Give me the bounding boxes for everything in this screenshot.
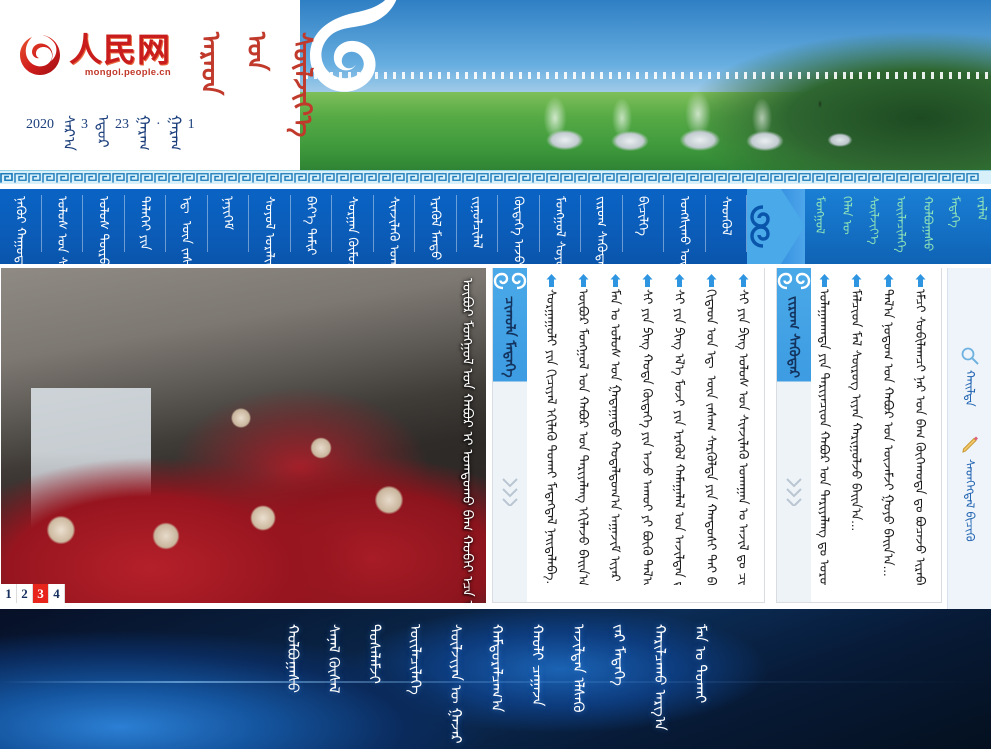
logo-domain-text: mongol.people.cn [69,68,171,78]
news-item-title: ᠡᠮᠴᠢ ᠰᠤᠪᠢᠯᠠᠭᠴᠢ ᠨᠠᠷ ᠤᠨ ᠪᠠᠭ ᠬᠥᠬᠡᠬᠣᠲᠠ ᠳᠤ ᠪᠤ… [912,289,928,585]
news-item-title: ᠰᠢ ᠶᠢᠨ ᠫᠢᠩ ᠤᠯᠤᠰ ᠤᠨ ᠰᠢᠨᠵᠢᠯᠡᠬᠦ ᠤᠬᠠᠭᠠᠨ ᠤ ᠠᠵ… [735,289,751,585]
site-header: 人民网 mongol.people.cn ᠠᠷᠠᠳ ᠤᠨ ᠰᠦᠯᠵᠢᠶ᠎ᠡ 20… [0,0,991,170]
carousel-dot-2[interactable]: 2 [17,584,33,603]
news-item-title: ᠬᠢᠲᠠᠳ ᠤᠨ ᠡᠳ᠋ ᠍ ᠦᠨ ᠵᠠᠰᠠᠭ ᠰᠡᠷᠭᠦᠯᠲᠡ ᠶᠢᠨ ᠬᠠᠨ… [703,289,719,585]
news-item[interactable]: ᠲᠠᠯ᠎ᠠ ᠨᠤᠲᠤᠭ ᠤᠨ ᠬᠠᠪᠤᠷ ᠤᠨ ᠦᠵᠡᠮᠵᠢ ᠭᠣᠶᠤ ᠪᠠᠢᠨ… [872,274,904,596]
rail-button-pencil[interactable]: ᠰᠡᠳᠬᠡᠭᠳᠡᠯ ᠪᠢᠴᠢᠬᠦ [960,435,980,542]
bullet-arrow-icon [883,274,894,287]
carousel-dot-1[interactable]: 1 [1,584,17,603]
cloud-ornament-icon [493,268,527,294]
nav-item-15[interactable]: ᠪᠢᠴᠢᠯᠭᠡ [623,189,665,264]
rail-button-label: ᠰᠡᠳᠬᠡᠭᠳᠡᠯ ᠪᠢᠴᠢᠬᠦ [963,459,976,542]
search-icon[interactable] [960,346,980,366]
carousel-indicators: 1234 [1,584,65,603]
news-item-title: ᠤᠯᠠᠭᠠᠨᠬᠠᠳᠠ ᠶᠢᠨ ᠲᠠᠷᠢᠶᠠᠴᠢᠳ ᠬᠠᠪᠤᠷ ᠤᠨ ᠲᠠᠷᠢᠶᠠ… [816,289,832,585]
bullet-arrow-icon [578,274,589,287]
nav-item-label: ᠡᠷᠡᠭᠦᠯ ᠮᠡᠨᠳᠦ [429,196,443,260]
panel-title: ᠵᠢᠷᠤᠭ ᠰᠡᠭᠦᠳᠡᠷ [786,296,803,378]
date-year-label: ᠰᠠᠷ᠎ᠠ [60,115,75,135]
nav-primary-group: ᠨᠡᠭᠦᠷ ᠬᠠᠭᠤᠳᠠᠰᠤᠤᠯᠤᠰ ᠤᠨ ᠰᠣᠨᠢᠨᠤᠯᠤᠰ ᠲᠥᠷᠥᠳᠡᠯᠡ… [0,189,747,264]
nav-item-label: ᠨᠡᠶᠢᠭᠡᠮ [221,196,235,230]
nav-item-label: ᠪᠢᠴᠢᠯᠭᠡ [636,196,650,236]
nav-sub-item-4[interactable]: ᠬᠣᠯᠪᠤᠭᠠᠰᠤ [915,196,940,251]
nav-item-1[interactable]: ᠤᠯᠤᠰ ᠤᠨ ᠰᠣᠨᠢᠨ [42,189,84,264]
nav-item-5[interactable]: ᠨᠡᠶᠢᠭᠡᠮ [208,189,250,264]
bullet-arrow-icon [819,274,830,287]
nav-item-label: ᠪᠡᠶ᠎ᠡ ᠲᠠᠮᠢᠷ [304,196,318,255]
footer-link[interactable]: ᠬᠠᠤᠯᠢ ᠴᠠᠭᠠᠵᠠ [527,624,546,706]
nav-sub-item-label: ᠬᠡᠯᠡᠨ ᠦ [840,196,853,235]
footer-link[interactable]: ᠰᠦᠯᠵᠢᠶᠡᠨ ᠦ ᠭᠠᠵᠠᠷ [445,624,464,744]
bullet-arrow-icon [610,274,621,287]
carousel-dot-3[interactable]: 3 [33,584,49,603]
news-item-title: ᠰᠢ ᠶᠢᠨ ᠫᠢᠩ ᠬᠣᠲᠠ ᠬᠥᠳᠡᠭᠡ ᠶᠢᠨ ᠠᠵᠤ ᠠᠬᠤᠢ ᠶᠢ ᠪ… [639,289,655,585]
nav-sub-item-label: ᠰᠦᠯᠵᠢᠶ᠎ᠡ [867,196,880,245]
nav-item-label: ᠰᠤᠶᠤᠯ ᠤᠷᠠᠯᠢᠭ [263,196,277,264]
news-panel-1: ᠵᠢᠷᠤᠭ ᠰᠡᠭᠦᠳᠡᠷᠡᠮᠴᠢ ᠰᠤᠪᠢᠯᠠᠭᠴᠢ ᠨᠠᠷ ᠤᠨ ᠪᠠᠭ ᠬ… [776,268,942,603]
rail-button-search[interactable]: ᠬᠠᠢᠯᠲᠠ [960,346,980,407]
main-navigation: ᠨᠡᠭᠦᠷ ᠬᠠᠭᠤᠳᠠᠰᠤᠤᠯᠤᠰ ᠤᠨ ᠰᠣᠨᠢᠨᠤᠯᠤᠰ ᠲᠥᠷᠥᠳᠡᠯᠡ… [0,189,991,264]
nav-item-label: ᠵᠢᠷᠤᠭ ᠰᠡᠭᠦᠳᠡᠷ [595,196,609,264]
nav-item-label: ᠰᠤᠷᠭᠠᠨ ᠬᠥᠮᠦᠵᠢᠯ [346,196,360,264]
nav-item-label: ᠤᠯᠤᠰ ᠤᠨ ᠰᠣᠨᠢᠨ [55,196,69,264]
nav-item-label: ᠵᠢᠭᠤᠯᠴᠢᠯᠠᠯ [470,196,484,249]
news-item[interactable]: ᠰᠤᠷᠭᠠᠭᠤᠯᠢ ᠶᠢᠨ ᠬᠢᠴᠢᠶᠡᠯ ᠡᠬᠢᠯᠡᠬᠦ ᠲᠤᠬᠠᠢ ᠮᠡᠳᠡ… [535,274,567,596]
nav-item-label: ᠨᠡᠭᠦᠷ ᠬᠠᠭᠤᠳᠠᠰᠤ [14,196,28,264]
bullet-arrow-icon [706,274,717,287]
news-item[interactable]: ᠰᠢ ᠶᠢᠨ ᠫᠢᠩ ᠡᠯ᠎ᠡ ᠮᠤᠵᠢ ᠶᠢᠨ ᠡᠷᠡᠭᠦᠯ ᠬᠠᠮᠠᠭᠠᠯᠠ… [663,274,695,596]
panel-news-list-0: ᠰᠢ ᠶᠢᠨ ᠫᠢᠩ ᠤᠯᠤᠰ ᠤᠨ ᠰᠢᠨᠵᠢᠯᠡᠬᠦ ᠤᠬᠠᠭᠠᠨ ᠤ ᠠᠵ… [527,268,764,602]
footer-link[interactable]: ᠬᠠᠮᠲᠤᠷᠠᠯᠴᠠᠭ᠎ᠠ [486,624,505,712]
site-logo[interactable]: 人民网 mongol.people.cn ᠠᠷᠠᠳ ᠤᠨ ᠰᠦᠯᠵᠢᠶ᠎ᠡ [18,32,326,78]
utility-rail: ᠬᠠᠢᠯᠲᠠᠰᠡᠳᠬᠡᠭᠳᠡᠯ ᠪᠢᠴᠢᠬᠦ [947,268,991,609]
footer-link[interactable]: ᠵᠠᠷ ᠮᠡᠳᠡᠭᠡ [608,624,627,686]
bullet-arrow-icon [915,274,926,287]
site-footer: ᠮᠠᠨ ᠤ ᠲᠤᠬᠠᠢᠬᠠᠷᠢᠯᠴᠠᠬᠤ ᠠᠷᠭ᠎ᠠᠵᠠᠷ ᠮᠡᠳᠡᠭᠡᠠᠵᠢᠯ… [0,609,991,749]
page-root: 人民网 mongol.people.cn ᠠᠷᠠᠳ ᠤᠨ ᠰᠦᠯᠵᠢᠶ᠎ᠡ 20… [0,0,991,752]
news-item-title: ᠥᠪᠥᠷ ᠮᠣᠩᠭᠤᠯ ᠤᠨ ᠬᠠᠪᠤᠷ ᠤᠨ ᠲᠠᠷᠢᠶᠠᠯᠠᠩ ᠡᠬᠢᠯᠡᠵ… [575,289,591,585]
nav-item-11[interactable]: ᠵᠢᠭᠤᠯᠴᠢᠯᠠᠯ [457,189,499,264]
nav-item-13[interactable]: ᠮᠣᠩᠭᠤᠯ ᠰᠤᠶᠤᠯ [540,189,582,264]
footer-link[interactable]: ᠠᠵᠢᠯᠲᠠᠨ ᠡᠯᠰᠡᠬᠦ [568,624,587,713]
nav-item-label: ᠰᠢᠨᠵᠢᠯᠡᠬᠦ ᠤᠬᠠᠭᠠᠨ [387,196,401,264]
nav-item-label: ᠡᠳ᠋ ᠍ ᠦᠨ ᠵᠠᠰᠠᠭ [180,196,194,264]
news-panel-0: ᠴᠢᠬᠤᠯᠠ ᠮᠡᠳᠡᠭᠡᠰᠢ ᠶᠢᠨ ᠫᠢᠩ ᠤᠯᠤᠰ ᠤᠨ ᠰᠢᠨᠵᠢᠯᠡᠬ… [492,268,765,603]
date-year: 2020 [26,117,54,133]
carousel-dot-4[interactable]: 4 [49,584,65,603]
news-item[interactable]: ᠰᠢ ᠶᠢᠨ ᠫᠢᠩ ᠤᠯᠤᠰ ᠤᠨ ᠰᠢᠨᠵᠢᠯᠡᠬᠦ ᠤᠬᠠᠭᠠᠨ ᠤ ᠠᠵ… [727,274,759,596]
nav-item-4[interactable]: ᠡᠳ᠋ ᠍ ᠦᠨ ᠵᠠᠰᠠᠭ [166,189,208,264]
footer-link[interactable]: ᠮᠠᠨ ᠤ ᠲᠤᠬᠠᠢ [690,624,709,703]
bullet-arrow-icon [851,274,862,287]
meander-border [0,170,991,184]
date-day-label: ᠭᠠᠷᠠᠭ [135,115,150,135]
nav-sub-item-label: ᠮᠣᠩᠭᠤᠯ [813,196,826,234]
nav-sub-item-label: ᠮᠡᠳᠡᠭᠡ [948,196,961,228]
nav-item-label: ᠰᠡᠳᠬᠦᠯ [719,196,733,236]
date-weekday-number: 1 [188,117,195,133]
nav-item-10[interactable]: ᠡᠷᠡᠭᠦᠯ ᠮᠡᠨᠳᠦ [415,189,457,264]
nav-sub-item-5[interactable]: ᠮᠡᠳᠡᠭᠡ [942,196,967,228]
panel-header-1[interactable]: ᠵᠢᠷᠤᠭ ᠰᠡᠭᠦᠳᠡᠷ [777,268,811,602]
carousel-caption[interactable]: ᠥᠪᠥᠷ ᠮᠣᠩᠭᠤᠯ ᠤᠨ ᠬᠠᠪᠤᠷ ᠢ ᠤᠭᠲᠤᠬᠤ ᠪᠠᠭ ᠬᠤᠪᠡᠢ … [457,278,478,557]
footer-link-list: ᠮᠠᠨ ᠤ ᠲᠤᠬᠠᠢᠬᠠᠷᠢᠯᠴᠠᠬᠤ ᠠᠷᠭ᠎ᠠᠵᠠᠷ ᠮᠡᠳᠡᠭᠡᠠᠵᠢᠯ… [282,614,708,744]
logo-mongolian-text: ᠠᠷᠠᠳ ᠤᠨ ᠰᠦᠯᠵᠢᠶ᠎ᠡ [188,32,326,78]
chevron-down-icon[interactable] [784,476,804,506]
date-month: 3 [81,117,88,133]
nav-item-17[interactable]: ᠰᠡᠳᠬᠦᠯ [706,189,748,264]
nav-sub-item-label: ᠦᠢᠯᠡᠴᠢᠯᠡᠭᠡ [894,196,907,253]
chevron-down-icon[interactable] [500,476,520,506]
nav-item-7[interactable]: ᠪᠡᠶ᠎ᠡ ᠲᠠᠮᠢᠷ [291,189,333,264]
news-item[interactable]: ᠬᠢᠲᠠᠳ ᠤᠨ ᠡᠳ᠋ ᠍ ᠦᠨ ᠵᠠᠰᠠᠭ ᠰᠡᠷᠭᠦᠯᠲᠡ ᠶᠢᠨ ᠬᠠᠨ… [695,274,727,596]
news-panels: ᠴᠢᠬᠤᠯᠠ ᠮᠡᠳᠡᠭᠡᠰᠢ ᠶᠢᠨ ᠫᠢᠩ ᠤᠯᠤᠰ ᠤᠨ ᠰᠢᠨᠵᠢᠯᠡᠬ… [486,268,942,609]
bullet-arrow-icon [546,274,557,287]
nav-sub-item-0[interactable]: ᠮᠣᠩᠭᠤᠯ [807,196,832,234]
nav-sub-item-3[interactable]: ᠦᠢᠯᠡᠴᠢᠯᠡᠭᠡ [888,196,913,253]
people-daily-logo-icon [18,33,62,77]
news-item-title: ᠮᠠᠯᠴᠢᠳ ᠮᠠᠯ ᠰᠦᠷᠦᠭ ᠢᠶᠡᠨ ᠬᠠᠷᠢᠭᠤᠯᠵᠤ ᠪᠠᠢᠨ᠎ᠠ..… [848,289,864,531]
nav-item-label: ᠤᠯᠤᠰ ᠲᠥᠷᠥ [97,196,111,264]
nav-item-label: ᠳᠡᠯᠡᠬᠡᠢ ᠶᠢᠨ [138,196,152,250]
nav-sub-item-6[interactable]: ᠵᠠᠷᠯᠠᠯ [969,196,991,220]
rail-button-label: ᠬᠠᠢᠯᠲᠠ [963,370,976,407]
date-separator: · [156,117,161,133]
footer-link[interactable]: ᠬᠠᠷᠢᠯᠴᠠᠬᠤ ᠠᠷᠭ᠎ᠠ [649,624,668,731]
nav-item-label: ᠮᠣᠩᠭᠤᠯ ᠰᠤᠶᠤᠯ [553,196,567,264]
nav-item-14[interactable]: ᠵᠢᠷᠤᠭ ᠰᠡᠭᠦᠳᠡᠷ [581,189,623,264]
news-item[interactable]: ᠮᠠᠨ ᠤ ᠤᠯᠤᠰ ᠤᠨ ᠭᠠᠳᠠᠭᠠᠳᠤ ᠬᠤᠳᠠᠯᠳᠤᠭ᠎ᠠ ᠠᠭᠠᠵᠢᠮ… [599,274,631,596]
logo-wordmark: 人民网 mongol.people.cn [69,33,171,78]
date-weekday-label: ᠭᠠᠷᠠᠭ [167,115,182,135]
cloud-arrow-icon [747,189,805,264]
main-content: ᠥᠪᠥᠷ ᠮᠣᠩᠭᠤᠯ ᠤᠨ ᠬᠠᠪᠤᠷ ᠢ ᠤᠭᠲᠤᠬᠤ ᠪᠠᠭ ᠬᠤᠪᠡᠢ … [0,264,991,609]
nav-item-12[interactable]: ᠬᠥᠳᠡᠭᠡ ᠠᠵᠤ [498,189,540,264]
pencil-icon[interactable] [960,435,980,455]
header-grassland-photo [300,0,991,170]
bullet-arrow-icon [674,274,685,287]
photo-carousel[interactable]: ᠥᠪᠥᠷ ᠮᠣᠩᠭᠤᠯ ᠤᠨ ᠬᠠᠪᠤᠷ ᠢ ᠤᠭᠲᠤᠬᠤ ᠪᠠᠭ ᠬᠤᠪᠡᠢ … [1,268,486,603]
bullet-arrow-icon [642,274,653,287]
nav-sub-item-2[interactable]: ᠰᠦᠯᠵᠢᠶ᠎ᠡ [861,196,886,245]
nav-secondary-group: ᠮᠣᠩᠭᠤᠯᠬᠡᠯᠡᠨ ᠦᠰᠦᠯᠵᠢᠶ᠎ᠡᠦᠢᠯᠡᠴᠢᠯᠡᠭᠡᠬᠣᠯᠪᠤᠭᠠᠰᠤ… [805,189,991,264]
news-item[interactable]: ᠮᠠᠯᠴᠢᠳ ᠮᠠᠯ ᠰᠦᠷᠦᠭ ᠢᠶᠡᠨ ᠬᠠᠷᠢᠭᠤᠯᠵᠤ ᠪᠠᠢᠨ᠎ᠠ..… [840,274,872,596]
footer-link[interactable]: ᠬᠣᠯᠪᠤᠭᠠᠰᠤ [282,624,301,693]
cloud-ornament-icon [777,268,811,294]
carousel-photo-bus-interior [1,268,486,603]
news-item[interactable]: ᠰᠢ ᠶᠢᠨ ᠫᠢᠩ ᠬᠣᠲᠠ ᠬᠥᠳᠡᠭᠡ ᠶᠢᠨ ᠠᠵᠤ ᠠᠬᠤᠢ ᠶᠢ ᠪ… [631,274,663,596]
panel-title: ᠴᠢᠬᠤᠯᠠ ᠮᠡᠳᠡᠭᠡ [502,296,519,378]
nav-sub-item-1[interactable]: ᠬᠡᠯᠡᠨ ᠦ [834,196,859,235]
news-item-title: ᠰᠢ ᠶᠢᠨ ᠫᠢᠩ ᠡᠯ᠎ᠡ ᠮᠤᠵᠢ ᠶᠢᠨ ᠡᠷᠡᠭᠦᠯ ᠬᠠᠮᠠᠭᠠᠯᠠ… [671,289,687,585]
nav-item-3[interactable]: ᠳᠡᠯᠡᠬᠡᠢ ᠶᠢᠨ [125,189,167,264]
nav-divider-ornament [747,189,805,264]
nav-sub-item-label: ᠵᠠᠷᠯᠠᠯ [975,196,988,220]
nav-item-2[interactable]: ᠤᠯᠤᠰ ᠲᠥᠷᠥ [83,189,125,264]
news-item-title: ᠲᠠᠯ᠎ᠠ ᠨᠤᠲᠤᠭ ᠤᠨ ᠬᠠᠪᠤᠷ ᠤᠨ ᠦᠵᠡᠮᠵᠢ ᠭᠣᠶᠤ ᠪᠠᠢᠨ… [880,289,896,577]
nav-item-label: ᠬᠥᠳᠡᠭᠡ ᠠᠵᠤ [512,196,526,264]
panel-news-list-1: ᠡᠮᠴᠢ ᠰᠤᠪᠢᠯᠠᠭᠴᠢ ᠨᠠᠷ ᠤᠨ ᠪᠠᠭ ᠬᠥᠬᠡᠬᠣᠲᠠ ᠳᠤ ᠪᠤ… [811,268,941,602]
footer-link[interactable]: ᠦᠢᠯᠡᠴᠢᠯᠡᠭᠡ [405,624,424,695]
bullet-arrow-icon [738,274,749,287]
nav-item-8[interactable]: ᠰᠤᠷᠭᠠᠨ ᠬᠥᠮᠦᠵᠢᠯ [332,189,374,264]
nav-item-6[interactable]: ᠰᠤᠶᠤᠯ ᠤᠷᠠᠯᠢᠭ [249,189,291,264]
date-month-label: ᠡᠳᠦᠷ [94,115,109,135]
logo-chinese-text: 人民网 [69,33,171,66]
footer-link[interactable]: ᠰᠠᠨᠠᠯ ᠬᠦᠰᠡᠯ [323,624,342,693]
news-item[interactable]: ᠡᠮᠴᠢ ᠰᠤᠪᠢᠯᠠᠭᠴᠢ ᠨᠠᠷ ᠤᠨ ᠪᠠᠭ ᠬᠥᠬᠡᠬᠣᠲᠠ ᠳᠤ ᠪᠤ… [904,274,936,596]
nav-item-16[interactable]: ᠤᠩᠰᠢᠬᠤ ᠥᠷᠥᠭᠡ [664,189,706,264]
news-item[interactable]: ᠥᠪᠥᠷ ᠮᠣᠩᠭᠤᠯ ᠤᠨ ᠬᠠᠪᠤᠷ ᠤᠨ ᠲᠠᠷᠢᠶᠠᠯᠠᠩ ᠡᠬᠢᠯᠡᠵ… [567,274,599,596]
news-item[interactable]: ᠤᠯᠠᠭᠠᠨᠬᠠᠳᠠ ᠶᠢᠨ ᠲᠠᠷᠢᠶᠠᠴᠢᠳ ᠬᠠᠪᠤᠷ ᠤᠨ ᠲᠠᠷᠢᠶᠠ… [811,274,840,596]
news-item-title: ᠮᠠᠨ ᠤ ᠤᠯᠤᠰ ᠤᠨ ᠭᠠᠳᠠᠭᠠᠳᠤ ᠬᠤᠳᠠᠯᠳᠤᠭ᠎ᠠ ᠠᠭᠠᠵᠢᠮ… [607,289,623,585]
nav-item-0[interactable]: ᠨᠡᠭᠦᠷ ᠬᠠᠭᠤᠳᠠᠰᠤ [0,189,42,264]
footer-link[interactable]: ᠲᠤᠰᠠᠯᠠᠮᠵᠢ [364,624,383,684]
header-date: 2020 ᠰᠠᠷ᠎ᠠ 3 ᠡᠳᠦᠷ 23 ᠭᠠᠷᠠᠭ · ᠭᠠᠷᠠᠭ 1 [26,115,195,135]
news-item-title: ᠰᠤᠷᠭᠠᠭᠤᠯᠢ ᠶᠢᠨ ᠬᠢᠴᠢᠶᠡᠯ ᠡᠬᠢᠯᠡᠬᠦ ᠲᠤᠬᠠᠢ ᠮᠡᠳᠡ… [543,289,559,585]
date-day: 23 [115,117,129,133]
nav-item-9[interactable]: ᠰᠢᠨᠵᠢᠯᠡᠬᠦ ᠤᠬᠠᠭᠠᠨ [374,189,416,264]
nav-item-label: ᠤᠩᠰᠢᠬᠤ ᠥᠷᠥᠭᠡ [678,196,692,264]
panel-header-0[interactable]: ᠴᠢᠬᠤᠯᠠ ᠮᠡᠳᠡᠭᠡ [493,268,527,602]
nav-sub-item-label: ᠬᠣᠯᠪᠤᠭᠠᠰᠤ [921,196,934,251]
